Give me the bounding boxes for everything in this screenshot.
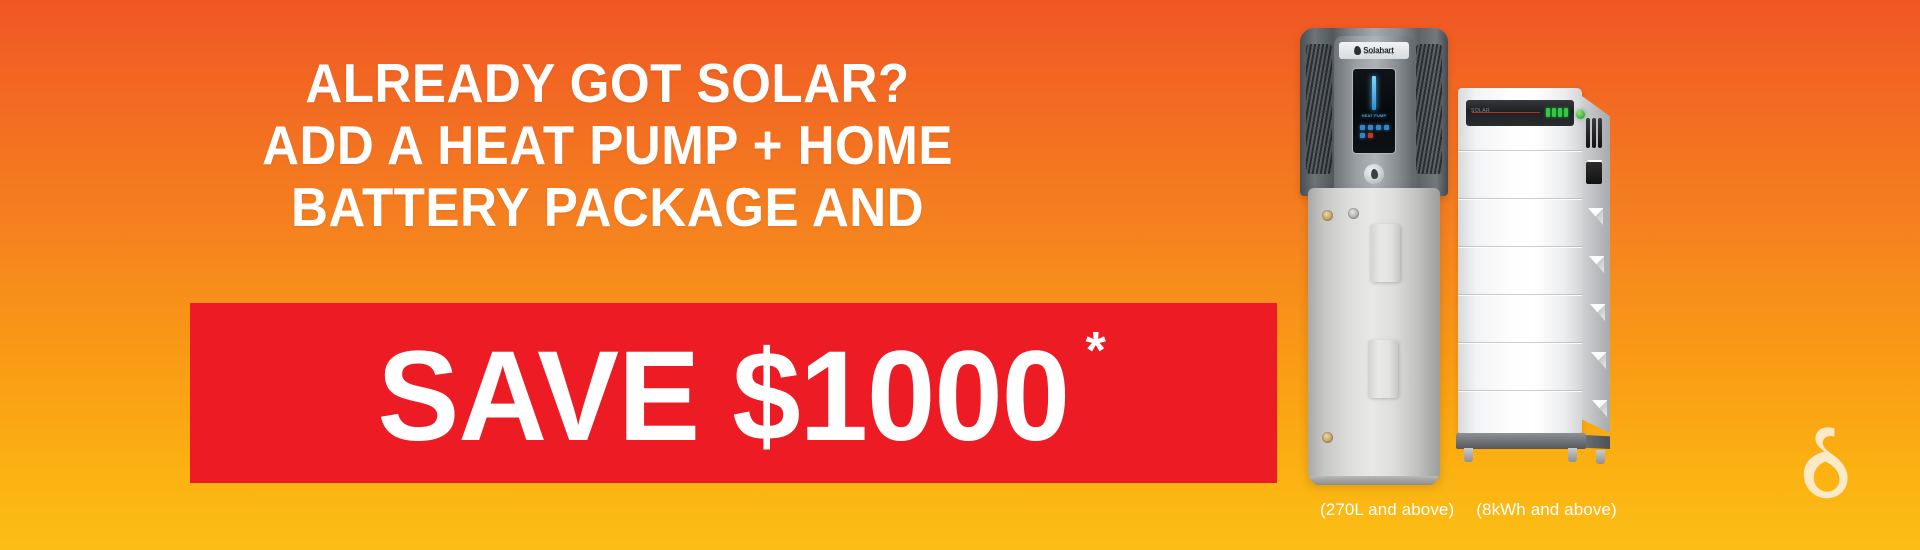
caption-heat-pump: (270L and above) [1320, 500, 1454, 520]
heat-pump-display-bar [1372, 76, 1376, 110]
headline-line-2: ADD A HEAT PUMP + HOME [43, 114, 1173, 176]
battery-connector-port [1586, 162, 1602, 184]
caption-battery: (8kWh and above) [1476, 500, 1617, 520]
heat-pump-port [1322, 210, 1333, 221]
battery-brand-label: SOLAR [1471, 108, 1490, 114]
heat-pump-key[interactable] [1368, 125, 1373, 130]
battery-foot [1568, 448, 1577, 462]
heat-pump-tank-body [1308, 188, 1440, 483]
battery-cable [1586, 118, 1590, 148]
save-offer-asterisk: * [1086, 325, 1106, 377]
battery-cable [1598, 118, 1602, 148]
battery-base-plinth [1456, 433, 1586, 449]
heat-pump-top-shell: Solahart Atmos Heat Pump HEAT PUMP [1300, 28, 1448, 196]
battery-led-indicators [1546, 108, 1568, 117]
battery-foot [1464, 448, 1473, 462]
heat-pump-access-panel [1370, 224, 1400, 282]
heat-pump-key[interactable] [1384, 125, 1389, 130]
product-captions: (270L and above) (8kWh and above) [1320, 500, 1750, 520]
battery-control-header: SOLAR [1466, 100, 1574, 126]
battery-module-seam [1458, 150, 1582, 151]
heat-pump-product: Solahart Atmos Heat Pump HEAT PUMP [1300, 28, 1448, 483]
solahart-flame-icon [1370, 169, 1378, 180]
heat-pump-vent-icon [1306, 44, 1332, 174]
heat-pump-vent-icon [1416, 44, 1442, 174]
solahart-logo-mark [1794, 420, 1858, 512]
promotional-banner: ALREADY GOT SOLAR? ADD A HEAT PUMP + HOM… [0, 0, 1920, 550]
battery-module-seam [1458, 390, 1582, 391]
heat-pump-display-panel[interactable]: HEAT PUMP [1352, 68, 1396, 154]
battery-led [1546, 108, 1550, 117]
home-battery-product: SOLAR [1458, 88, 1610, 463]
battery-body: SOLAR [1458, 88, 1582, 433]
solahart-flame-icon [1354, 46, 1362, 56]
save-offer-inner: SAVE $1000* [190, 303, 1277, 483]
battery-cable-bundle [1586, 118, 1608, 154]
battery-led [1558, 108, 1562, 117]
heat-pump-access-panel [1368, 340, 1398, 398]
headline-line-3: BATTERY PACKAGE AND [43, 176, 1173, 238]
battery-power-led [1576, 110, 1585, 119]
heat-pump-port [1322, 432, 1333, 443]
battery-led [1564, 108, 1568, 117]
headline-block: ALREADY GOT SOLAR? ADD A HEAT PUMP + HOM… [0, 52, 1215, 238]
battery-foot [1596, 450, 1605, 464]
heat-pump-key[interactable] [1360, 133, 1365, 138]
headline-line-1: ALREADY GOT SOLAR? [43, 52, 1173, 114]
save-offer-text: SAVE $1000 [378, 333, 1070, 461]
heat-pump-keypad[interactable] [1360, 125, 1390, 138]
heat-pump-display-text: HEAT PUMP [1353, 113, 1395, 118]
heat-pump-base [1310, 476, 1438, 485]
battery-led [1552, 108, 1556, 117]
battery-module-seam [1458, 198, 1582, 199]
save-offer-band: SAVE $1000* [190, 303, 1277, 483]
product-imagery: SOLAR [1300, 0, 1720, 500]
heat-pump-brand-sublabel: Atmos Heat Pump [1364, 51, 1395, 55]
heat-pump-key-power[interactable] [1368, 133, 1373, 138]
heat-pump-control-face: Solahart Atmos Heat Pump HEAT PUMP [1334, 36, 1414, 194]
heat-pump-port [1348, 208, 1359, 219]
battery-cable [1592, 118, 1596, 148]
heat-pump-key[interactable] [1376, 125, 1381, 130]
battery-module-seam [1458, 294, 1582, 295]
heat-pump-key[interactable] [1360, 125, 1365, 130]
heat-pump-emblem [1364, 164, 1384, 184]
battery-module-seam [1458, 342, 1582, 343]
battery-module-seam [1458, 246, 1582, 247]
battery-base-side [1586, 435, 1610, 449]
